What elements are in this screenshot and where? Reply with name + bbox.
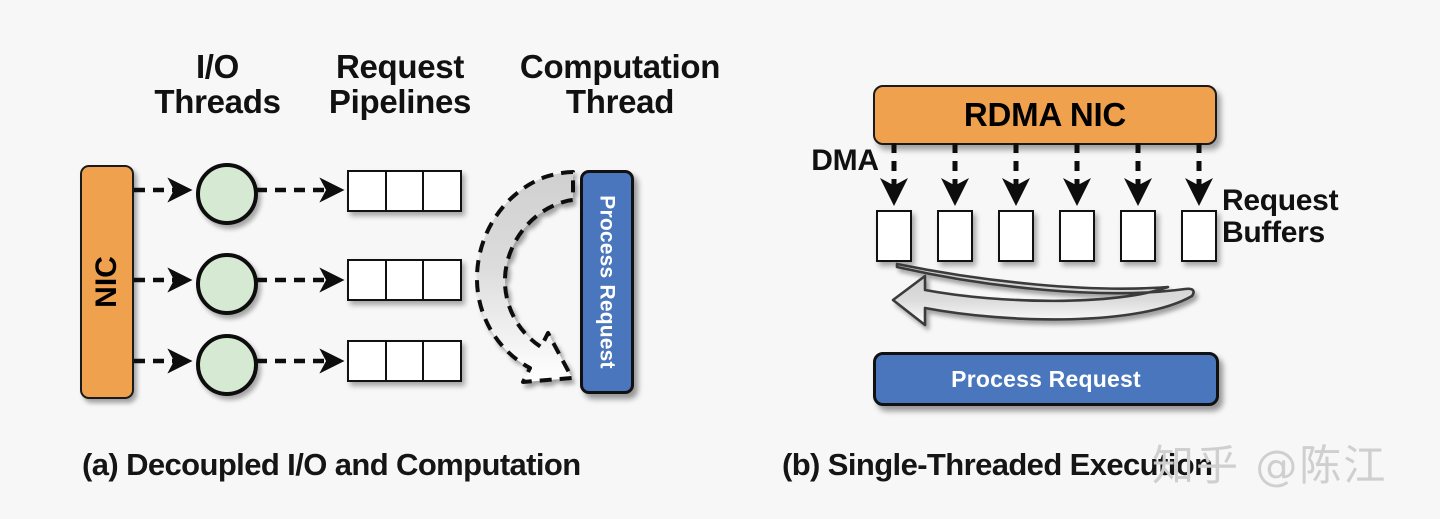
nic-label: NIC	[90, 256, 124, 308]
header-io-threads: I/O Threads	[140, 50, 295, 120]
nic-block: NIC	[80, 165, 134, 399]
request-buffer-2	[937, 210, 973, 262]
caption-panel-a: (a) Decoupled I/O and Computation	[82, 447, 581, 483]
rdma-nic-label: RDMA NIC	[964, 96, 1126, 134]
request-buffer-3	[998, 210, 1034, 262]
process-request-label: Process Request	[595, 195, 619, 368]
panel-decoupled-io: I/O Threads Request Pipelines Computatio…	[0, 0, 760, 519]
pipeline-cell	[424, 172, 460, 210]
io-thread-circle-1	[196, 163, 258, 225]
request-buffer-6	[1181, 210, 1217, 262]
figure-canvas: I/O Threads Request Pipelines Computatio…	[0, 0, 1440, 519]
header-computation-thread: Computation Thread	[490, 50, 750, 120]
dma-label: DMA	[790, 145, 900, 177]
pipeline-cell	[424, 261, 460, 299]
request-pipeline-1	[347, 170, 462, 212]
rdma-nic-block: RDMA NIC	[873, 85, 1217, 145]
process-request-bar: Process Request	[873, 352, 1219, 406]
pipeline-cell	[349, 261, 387, 299]
watermark-text: 知乎 @陈江	[1152, 432, 1387, 493]
caption-panel-b: (b) Single-Threaded Execution	[782, 447, 1212, 483]
header-request-pipelines: Request Pipelines	[310, 50, 490, 120]
request-buffer-4	[1059, 210, 1095, 262]
request-buffer-5	[1120, 210, 1156, 262]
request-buffer-1	[876, 210, 912, 262]
process-request-label: Process Request	[951, 366, 1141, 393]
io-thread-circle-2	[196, 253, 258, 315]
pipeline-cell	[387, 172, 425, 210]
process-request-block: Process Request	[580, 170, 634, 394]
pipeline-cell	[387, 261, 425, 299]
io-thread-circle-3	[196, 334, 258, 396]
request-pipeline-2	[347, 259, 462, 301]
pipeline-cell	[349, 172, 387, 210]
pipeline-cell	[349, 342, 387, 380]
request-buffers-label: Request Buffers	[1222, 185, 1402, 249]
pipeline-cell	[387, 342, 425, 380]
request-pipeline-3	[347, 340, 462, 382]
pipeline-cell	[424, 342, 460, 380]
